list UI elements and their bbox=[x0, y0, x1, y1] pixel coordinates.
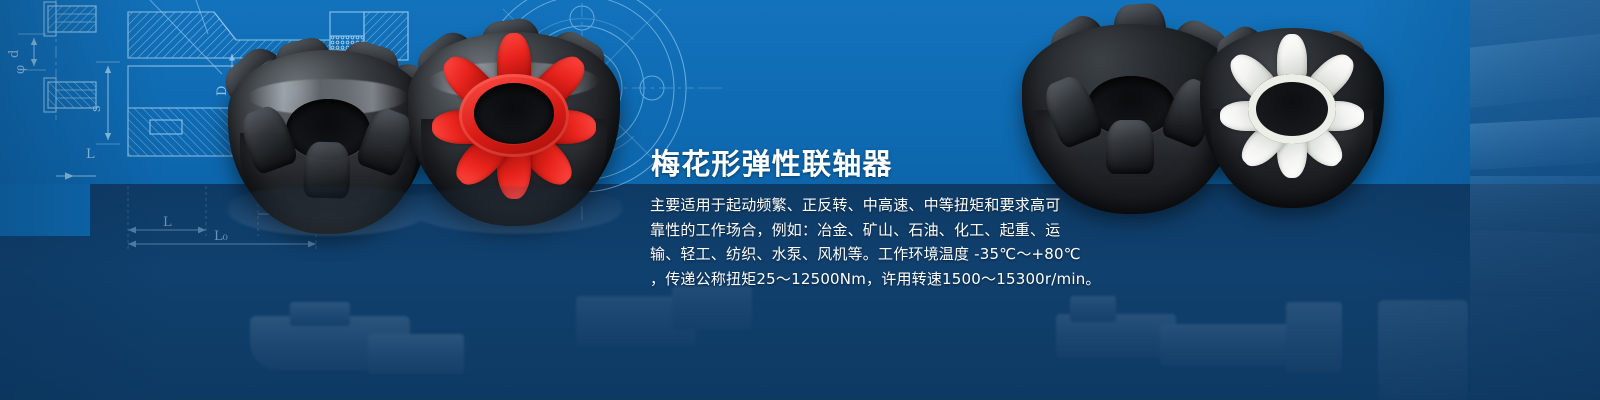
page-title: 梅花形弹性联轴器 bbox=[651, 141, 893, 183]
product-banner: d φ s L D L L L₀ bbox=[0, 0, 1600, 400]
product-description: 主要适用于起动频繁、正反转、中高速、中等扭矩和要求高可 靠性的工作场合，例如：冶… bbox=[650, 193, 1070, 291]
description-line: 靠性的工作场合，例如：冶金、矿山、石油、化工、起重、运 bbox=[650, 218, 1070, 243]
left-vignette bbox=[0, 0, 240, 400]
background-machinery-ghost-left bbox=[250, 300, 500, 380]
hub-bore bbox=[474, 83, 555, 144]
hub-jaw-inner bbox=[1106, 120, 1154, 174]
background-machinery-ghost-mid bbox=[576, 286, 766, 356]
right-vignette bbox=[1280, 0, 1600, 400]
description-line: 输、轻工、纺织、水泵、风机等。工作环境温度 -35℃～+80℃ bbox=[650, 242, 1070, 267]
description-line: ，传递公称扭矩25～12500Nm，许用转速1500～15300r/min。 bbox=[650, 267, 1070, 292]
product-reflection-left bbox=[228, 170, 688, 236]
description-line: 主要适用于起动频繁、正反转、中高速、中等扭矩和要求高可 bbox=[650, 193, 1070, 218]
